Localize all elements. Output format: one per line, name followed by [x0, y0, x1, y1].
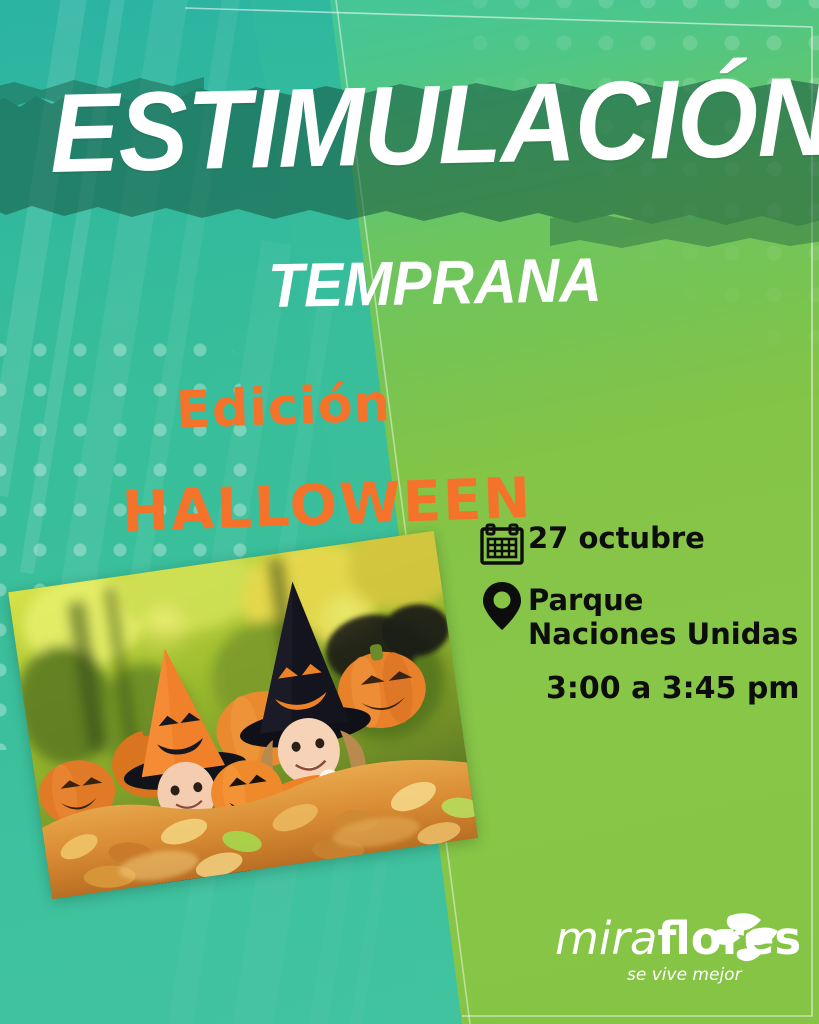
event-date-row: 27 octubre — [476, 518, 816, 570]
calendar-icon — [476, 518, 528, 570]
miraflores-logo: miraflores se vive mejor — [551, 908, 781, 998]
page-title: ESTIMULACIÓN — [49, 63, 730, 190]
event-location-row: Parque Naciones Unidas — [476, 580, 816, 651]
svg-text:miraflores: miraflores — [555, 912, 801, 965]
map-pin-icon — [476, 580, 528, 632]
event-date-text: 27 octubre — [528, 518, 705, 556]
event-time-text: 3:00 a 3:45 pm — [546, 671, 816, 706]
event-photo-illustration — [8, 531, 478, 899]
poster-canvas: ESTIMULACIÓN TEMPRANA Edición HALLOWEEN — [0, 0, 819, 1024]
event-location-text: Parque Naciones Unidas — [528, 580, 798, 651]
page-subtitle: TEMPRANA — [267, 250, 602, 318]
edition-name: HALLOWEEN — [121, 471, 533, 541]
edition-label: Edición — [175, 378, 392, 436]
event-details: 27 octubre Parque Naciones Unidas 3:00 a… — [476, 518, 816, 706]
svg-text:se vive mejor: se vive mejor — [627, 965, 743, 985]
event-photo — [8, 531, 478, 899]
